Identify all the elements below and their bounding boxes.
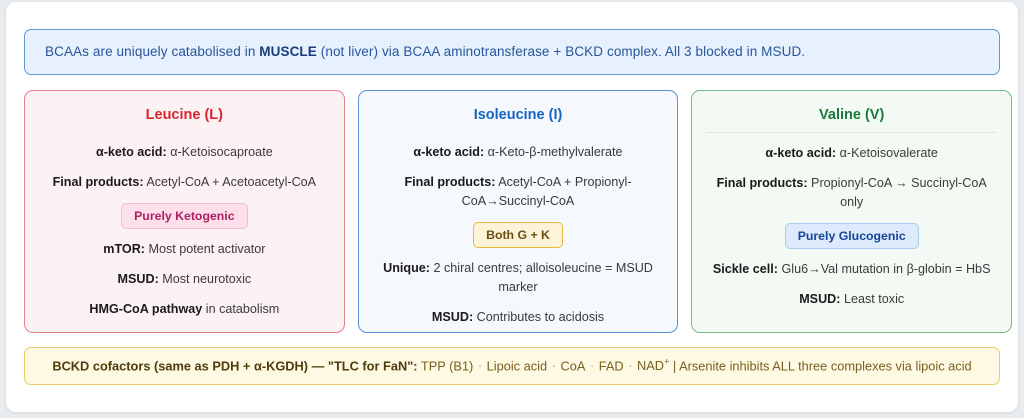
fact-label: mTOR: (103, 242, 145, 256)
page-root: BCAAs are uniquely catabolised in MUSCLE… (0, 0, 1024, 418)
fact-hmg-coa: HMG-CoA pathway in catabolism (39, 300, 330, 319)
card-leucine: Leucine (L) α-keto acid: α-Ketoisocaproa… (24, 90, 345, 333)
bckd-cofactors-footer: BCKD cofactors (same as PDH + α-KGDH) — … (24, 347, 1000, 385)
fact-value: Contributes to acidosis (473, 310, 604, 324)
fact-label: α-keto acid: (413, 145, 484, 159)
fact-label: α-keto acid: (96, 145, 167, 159)
fact-label: Unique: (383, 261, 430, 275)
fact-value: α-Ketoisovalerate (836, 146, 938, 160)
fact-value: Acetyl-CoA + Acetoacetyl-CoA (144, 175, 317, 189)
footer-cofactor-list: TPP (B1) · Lipoic acid · CoA · FAD · NAD… (421, 358, 673, 373)
fact-label: Final products: (404, 175, 495, 189)
cofactor-item: Lipoic acid (487, 358, 547, 373)
cofactor-item: TPP (B1) (421, 358, 473, 373)
fact-label: Sickle cell: (713, 262, 778, 276)
fact-mtor: mTOR: Most potent activator (39, 240, 330, 259)
cofactor-item: NAD+ (637, 358, 669, 373)
fact-value: Most potent activator (145, 242, 265, 256)
fact-label: MSUD: (799, 292, 840, 306)
fact-label: Final products: (53, 175, 144, 189)
status-badge-ketogenic: Purely Ketogenic (121, 203, 247, 229)
cofactor-separator: · (547, 358, 560, 373)
fact-label: MSUD: (117, 272, 158, 286)
card-valine: Valine (V) α-keto acid: α-Ketoisovalerat… (691, 90, 1012, 333)
fact-value: Most neurotoxic (159, 272, 251, 286)
footer-label: BCKD cofactors (same as PDH + α-KGDH) — … (52, 358, 417, 373)
fact-msud: MSUD: Contributes to acidosis (373, 308, 664, 327)
fact-value: Glu6→Val mutation in β-globin = HbS (778, 262, 990, 276)
fact-value: Propionyl-CoA → Succinyl-CoA only (808, 176, 987, 209)
fact-sickle-cell: Sickle cell: Glu6→Val mutation in β-glob… (706, 260, 997, 279)
fact-final-products: Final products: Propionyl-CoA → Succinyl… (706, 174, 997, 212)
footer-text: BCKD cofactors (same as PDH + α-KGDH) — … (52, 357, 971, 375)
badge-row: Purely Ketogenic (39, 203, 330, 229)
badge-row: Purely Glucogenic (706, 223, 997, 249)
fact-value: Least toxic (840, 292, 904, 306)
status-badge-both: Both G + K (473, 222, 563, 248)
fact-msud: MSUD: Most neurotoxic (39, 270, 330, 289)
card-title-valine: Valine (V) (819, 107, 884, 123)
fact-label: α-keto acid: (765, 146, 836, 160)
footer-divider: | (673, 358, 676, 373)
fact-label: Final products: (717, 176, 808, 190)
status-badge-glucogenic: Purely Glucogenic (785, 223, 919, 249)
card-title-leucine: Leucine (L) (146, 107, 223, 123)
fact-value: in catabolism (202, 302, 279, 316)
fact-unique: Unique: 2 chiral centres; alloisoleucine… (373, 259, 664, 297)
fact-keto-acid: α-keto acid: α-Ketoisovalerate (706, 144, 997, 163)
banner-lead: BCAAs are uniquely catabolised in (45, 44, 259, 59)
cofactor-separator: · (473, 358, 486, 373)
fact-keto-acid: α-keto acid: α-Ketoisocaproate (39, 143, 330, 162)
card-title-isoleucine: Isoleucine (I) (474, 107, 563, 123)
fact-value: α-Keto-β-methylvalerate (484, 145, 622, 159)
cofactor-separator: · (624, 358, 637, 373)
fact-final-products: Final products: Acetyl-CoA + Acetoacetyl… (39, 173, 330, 192)
cofactor-item: CoA (560, 358, 585, 373)
amino-acid-card-row: Leucine (L) α-keto acid: α-Ketoisocaproa… (24, 90, 1012, 333)
cofactor-separator: · (585, 358, 598, 373)
content-sheet: BCAAs are uniquely catabolised in MUSCLE… (6, 2, 1018, 412)
bcaa-overview-banner: BCAAs are uniquely catabolised in MUSCLE… (24, 29, 1000, 75)
fact-label: HMG-CoA pathway (89, 302, 202, 316)
banner-tail: (not liver) via BCAA aminotransferase + … (317, 44, 805, 59)
card-divider (706, 132, 997, 133)
footer-note: Arsenite inhibits ALL three complexes vi… (679, 358, 972, 373)
fact-value: 2 chiral centres; alloisoleucine = MSUD … (430, 261, 653, 294)
card-isoleucine: Isoleucine (I) α-keto acid: α-Keto-β-met… (358, 90, 679, 333)
fact-label: MSUD: (432, 310, 473, 324)
fact-value: α-Ketoisocaproate (167, 145, 273, 159)
fact-final-products: Final products: Acetyl-CoA + Propionyl-C… (373, 173, 664, 211)
banner-text: BCAAs are uniquely catabolised in MUSCLE… (45, 43, 805, 61)
banner-emphasis: MUSCLE (259, 44, 317, 59)
fact-msud: MSUD: Least toxic (706, 290, 997, 309)
badge-row: Both G + K (373, 222, 664, 248)
cofactor-item: FAD (599, 358, 624, 373)
fact-keto-acid: α-keto acid: α-Keto-β-methylvalerate (373, 143, 664, 162)
superscript-plus: + (664, 357, 669, 367)
